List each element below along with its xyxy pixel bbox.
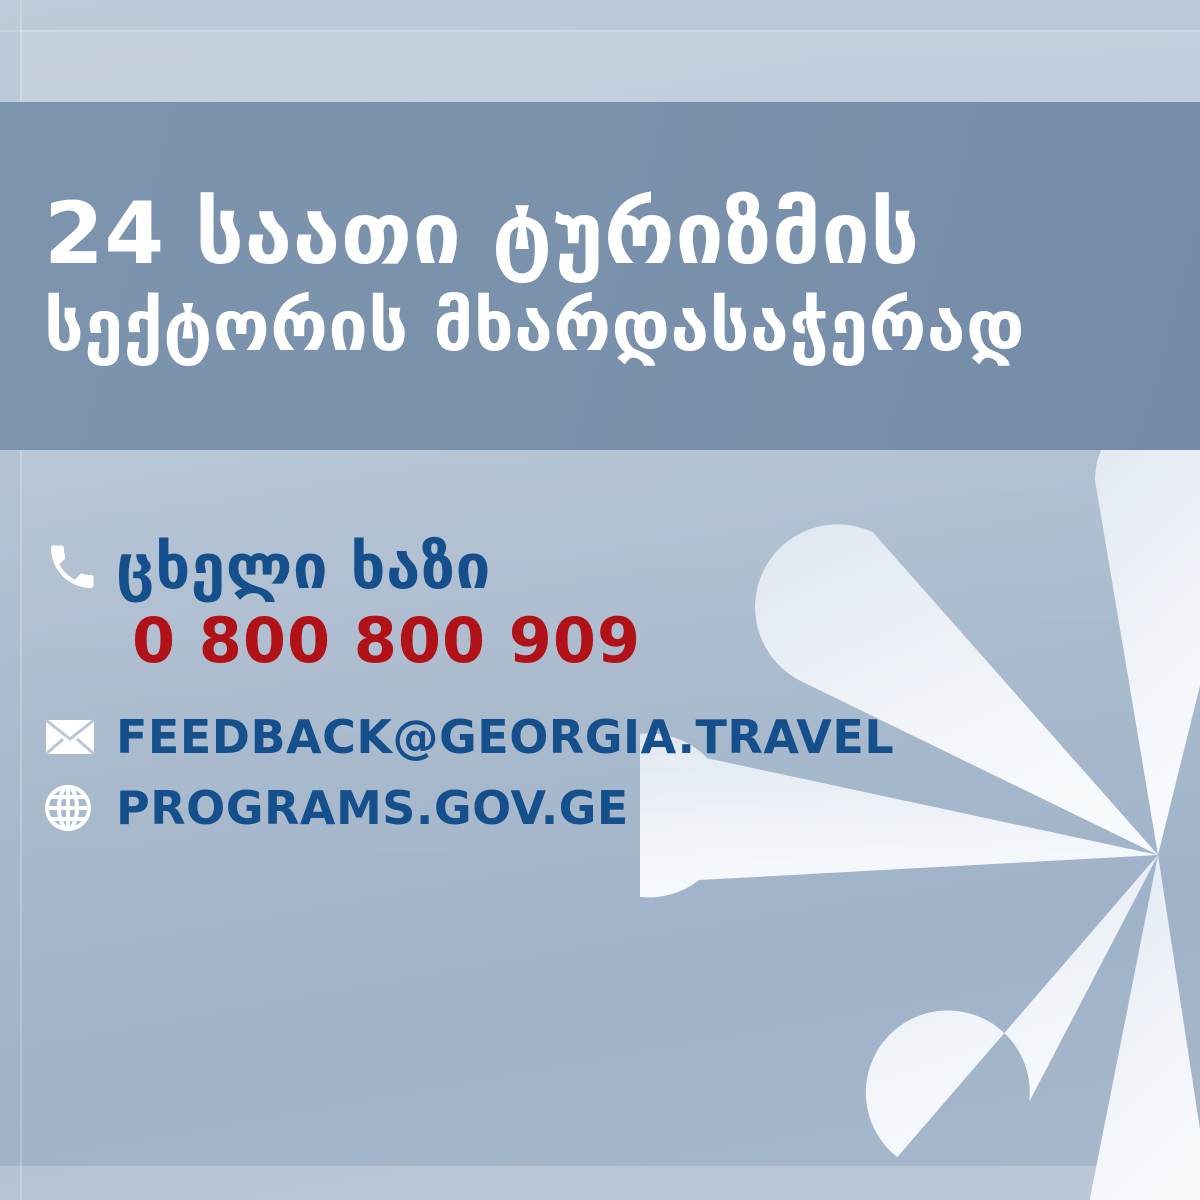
hotline-row: ცხელი ხაზი	[44, 536, 944, 598]
website-address[interactable]: PROGRAMS.GOV.GE	[116, 785, 629, 831]
globe-icon	[44, 784, 116, 832]
poster-canvas: 24 საათი ტურიზმის სექტორის მხარდასაჭერად…	[0, 0, 1200, 1200]
email-address[interactable]: FEEDBACK@GEORGIA.TRAVEL	[116, 714, 894, 760]
petal-down	[1088, 855, 1200, 1200]
headline-line-2: სექტორის მხარდასაჭერად	[44, 291, 1170, 361]
contact-block: ცხელი ხაზი 0 800 800 909 FEEDBACK@GEORGI…	[44, 536, 944, 832]
headline-banner: 24 საათი ტურიზმის სექტორის მხარდასაჭერად	[0, 102, 1200, 450]
headline-line-1: 24 საათი ტურიზმის	[44, 191, 1170, 277]
envelope-icon	[44, 717, 116, 757]
background-horizontal-rule	[0, 30, 1200, 32]
petal-lower-left	[864, 845, 1158, 1166]
hotline-number[interactable]: 0 800 800 909	[132, 610, 944, 672]
petal-up	[1095, 402, 1200, 855]
website-row[interactable]: PROGRAMS.GOV.GE	[44, 784, 944, 832]
phone-icon	[44, 539, 116, 595]
hotline-label: ცხელი ხაზი	[116, 536, 491, 598]
background-bottom-band	[0, 1166, 1200, 1200]
email-row[interactable]: FEEDBACK@GEORGIA.TRAVEL	[44, 714, 944, 760]
